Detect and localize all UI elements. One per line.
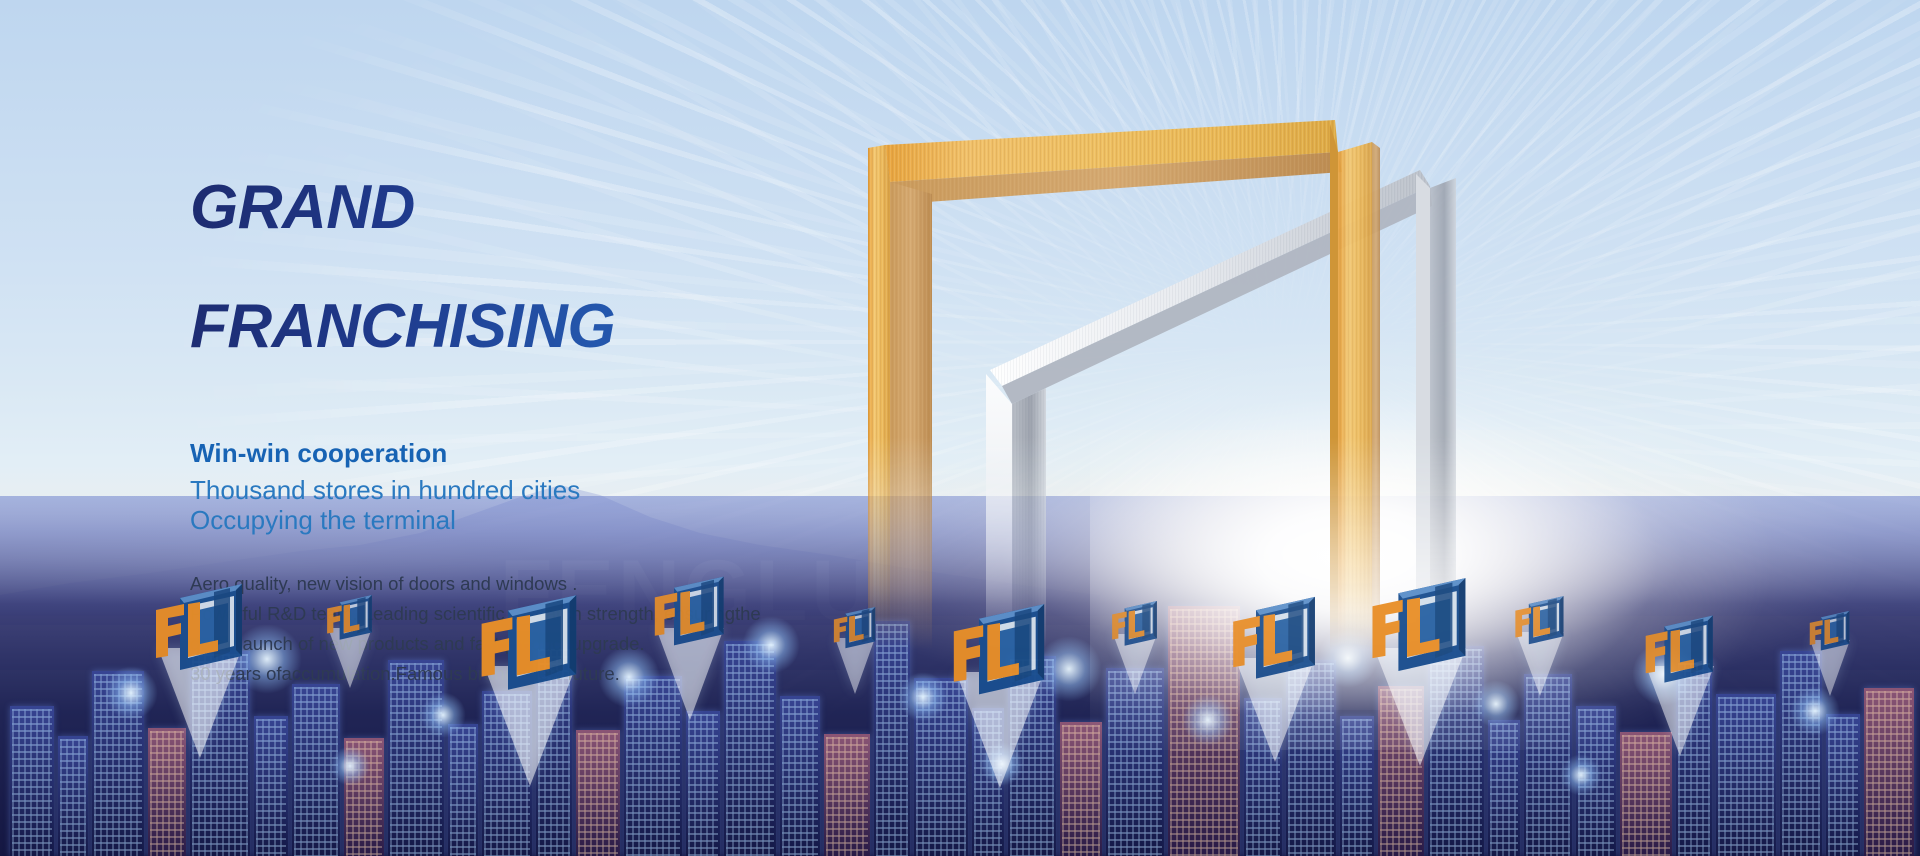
fl-brand-logo-icon <box>1641 614 1719 686</box>
fl-brand-logo-icon <box>1109 600 1161 648</box>
fl-brand-logo-icon <box>475 593 585 694</box>
fl-brand-logo-icon <box>1366 576 1474 675</box>
fl-brand-logo-icon <box>1228 595 1323 682</box>
subheadline-line-2: Occupying the terminal <box>190 505 950 535</box>
fl-brand-logo-icon <box>948 602 1053 699</box>
fl-brand-logo-icon <box>324 594 376 642</box>
fl-brand-logo-icon <box>1512 595 1568 647</box>
fl-brand-logo-icon <box>650 575 730 649</box>
door-frames-illustration <box>860 90 1560 650</box>
fl-brand-logo-icon <box>150 582 250 674</box>
subheadline-bold: Win-win cooperation <box>190 438 950 469</box>
hero-banner: FENGLU <box>0 0 1920 856</box>
headline-line-2: FRANCHISING <box>190 297 950 357</box>
page-title: GRAND FRANCHISING <box>190 118 950 416</box>
fl-brand-logo-icon <box>831 606 879 650</box>
headline-line-1: GRAND <box>190 178 950 238</box>
fl-brand-logo-icon <box>1807 610 1853 652</box>
subheadline-line-1: Thousand stores in hundred cities <box>190 475 950 505</box>
